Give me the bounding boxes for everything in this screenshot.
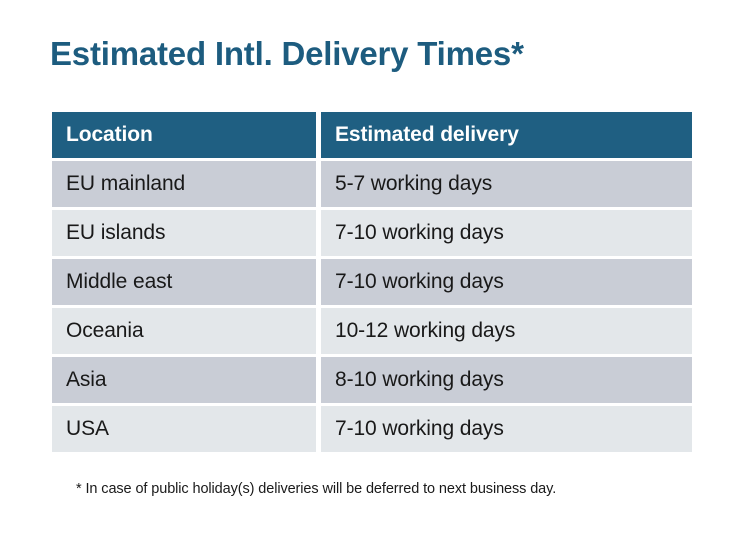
cell-delivery: 5-7 working days xyxy=(321,161,692,207)
table-row: EU islands 7-10 working days xyxy=(52,210,692,256)
table-row: Asia 8-10 working days xyxy=(52,357,692,403)
table-header-row: Location Estimated delivery xyxy=(52,112,692,158)
cell-location: Middle east xyxy=(52,259,316,305)
column-header-location: Location xyxy=(52,112,316,158)
delivery-times-panel: Estimated Intl. Delivery Times* Location… xyxy=(0,0,745,536)
table-row: Middle east 7-10 working days xyxy=(52,259,692,305)
estimated-delivery-table: Location Estimated delivery EU mainland … xyxy=(52,112,692,452)
page-title: Estimated Intl. Delivery Times* xyxy=(50,36,524,72)
table-row: EU mainland 5-7 working days xyxy=(52,161,692,207)
cell-location: USA xyxy=(52,406,316,452)
cell-location: Asia xyxy=(52,357,316,403)
table-row: USA 7-10 working days xyxy=(52,406,692,452)
cell-delivery: 8-10 working days xyxy=(321,357,692,403)
cell-location: Oceania xyxy=(52,308,316,354)
cell-delivery: 10-12 working days xyxy=(321,308,692,354)
table-row: Oceania 10-12 working days xyxy=(52,308,692,354)
cell-location: EU mainland xyxy=(52,161,316,207)
cell-delivery: 7-10 working days xyxy=(321,210,692,256)
cell-location: EU islands xyxy=(52,210,316,256)
footnote-text: * In case of public holiday(s) deliverie… xyxy=(76,481,556,497)
cell-delivery: 7-10 working days xyxy=(321,259,692,305)
cell-delivery: 7-10 working days xyxy=(321,406,692,452)
column-header-estimated-delivery: Estimated delivery xyxy=(321,112,692,158)
